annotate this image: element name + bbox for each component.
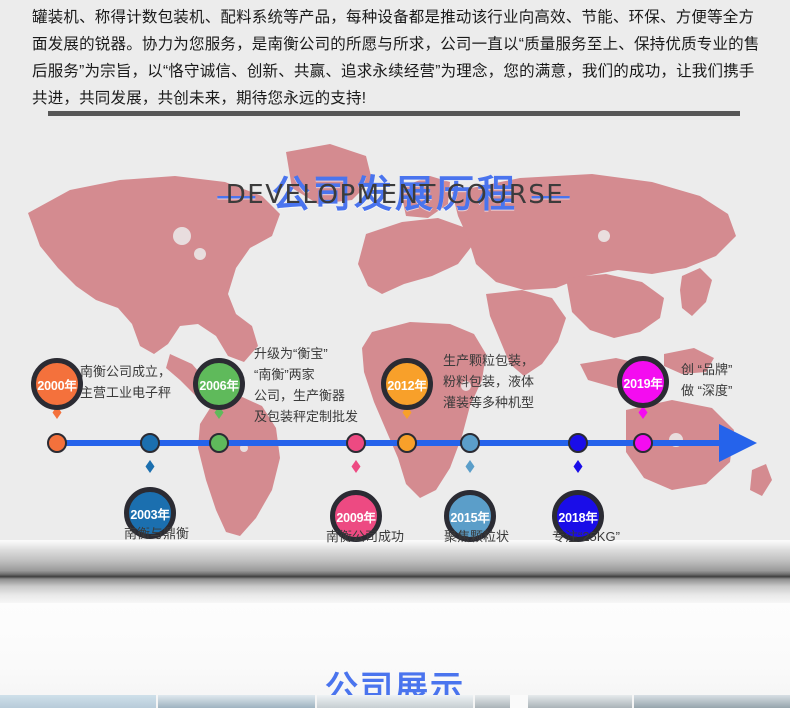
development-course-section: — 公司发展历程 — DEVELOPMENT COURSE 2000年 南衡公司… xyxy=(0,118,790,543)
photo-thumbnail[interactable] xyxy=(0,695,156,708)
company-show-section: 公司展示 xyxy=(0,603,790,708)
milestone-year-2006: 2006年 xyxy=(199,375,238,394)
connector-diamond-2015 xyxy=(466,460,475,473)
photo-strip-gap xyxy=(510,695,528,708)
photo-thumbnail[interactable] xyxy=(634,695,790,708)
connector-diamond-2009 xyxy=(352,460,361,473)
milestone-note-2000: 南衡公司成立， 主营工业电子秤 xyxy=(80,361,210,403)
connector-diamond-2003 xyxy=(146,460,155,473)
timeline-dot-2006[interactable] xyxy=(209,433,229,453)
milestone-year-2019: 2019年 xyxy=(623,373,662,392)
page-subtitle-en: DEVELOPMENT COURSE xyxy=(0,180,790,210)
milestone-note-2018: 专注“25KG” 颗粒状物料 袋装“秒速” 封口 xyxy=(552,526,677,543)
timeline-dot-2015[interactable] xyxy=(460,433,480,453)
timeline-dot-2009[interactable] xyxy=(346,433,366,453)
milestone-note-2019: 创 “品牌” 做 “深度” xyxy=(681,359,790,401)
milestone-note-2012: 生产颗粒包装， 粉料包装，液体 灌装等多种机型 xyxy=(443,350,583,413)
photo-thumbnail[interactable] xyxy=(158,695,314,708)
milestone-year-2015: 2015年 xyxy=(450,507,489,526)
photo-thumbnail[interactable] xyxy=(317,695,473,708)
milestone-bubble-2019[interactable]: 2019年 xyxy=(617,356,669,408)
timeline-dot-2019[interactable] xyxy=(633,433,653,453)
milestone-note-2006: 升级为“衡宝” “南衡”两家 公司，生产衡器 及包装秤定制批发 xyxy=(254,343,394,427)
milestone-year-2000: 2000年 xyxy=(37,375,76,394)
timeline-dot-2000[interactable] xyxy=(47,433,67,453)
timeline-dot-2018[interactable] xyxy=(568,433,588,453)
milestone-note-2009: 南衡公司成功 转型为自动秤 包装设备生产 研发与销售 xyxy=(326,526,451,543)
milestone-note-2003: 南衡与鼎衡 公司合并， 主营工业 电子秤 xyxy=(124,523,244,543)
milestone-bubble-2000[interactable]: 2000年 xyxy=(31,358,83,410)
timeline-dot-2003[interactable] xyxy=(140,433,160,453)
timeline-dot-2012[interactable] xyxy=(397,433,417,453)
intro-paragraph: 罐装机、称得计数包装机、配料系统等产品，每种设备都是推动该行业向高效、节能、环保… xyxy=(32,4,762,112)
milestone-year-2018: 2018年 xyxy=(558,507,597,526)
metal-divider-band xyxy=(0,543,790,603)
milestone-year-2003: 2003年 xyxy=(130,504,169,523)
timeline-arrow-icon xyxy=(719,424,757,462)
milestone-bubble-2006[interactable]: 2006年 xyxy=(193,358,245,410)
intro-divider-rule xyxy=(48,111,740,116)
milestone-year-2012: 2012年 xyxy=(387,375,426,394)
connector-diamond-2018 xyxy=(574,460,583,473)
photo-thumbnail[interactable] xyxy=(475,695,631,708)
milestone-year-2009: 2009年 xyxy=(336,507,375,526)
intro-section: 罐装机、称得计数包装机、配料系统等产品，每种设备都是推动该行业向高效、节能、环保… xyxy=(0,0,790,118)
photo-thumbnail-strip xyxy=(0,695,790,708)
product-detail-page: 罐装机、称得计数包装机、配料系统等产品，每种设备都是推动该行业向高效、节能、环保… xyxy=(0,0,790,708)
milestone-note-2015: 聚焦颗粒状 物料称重 智能包装 xyxy=(444,526,559,543)
milestone-bubble-2012[interactable]: 2012年 xyxy=(381,358,433,410)
